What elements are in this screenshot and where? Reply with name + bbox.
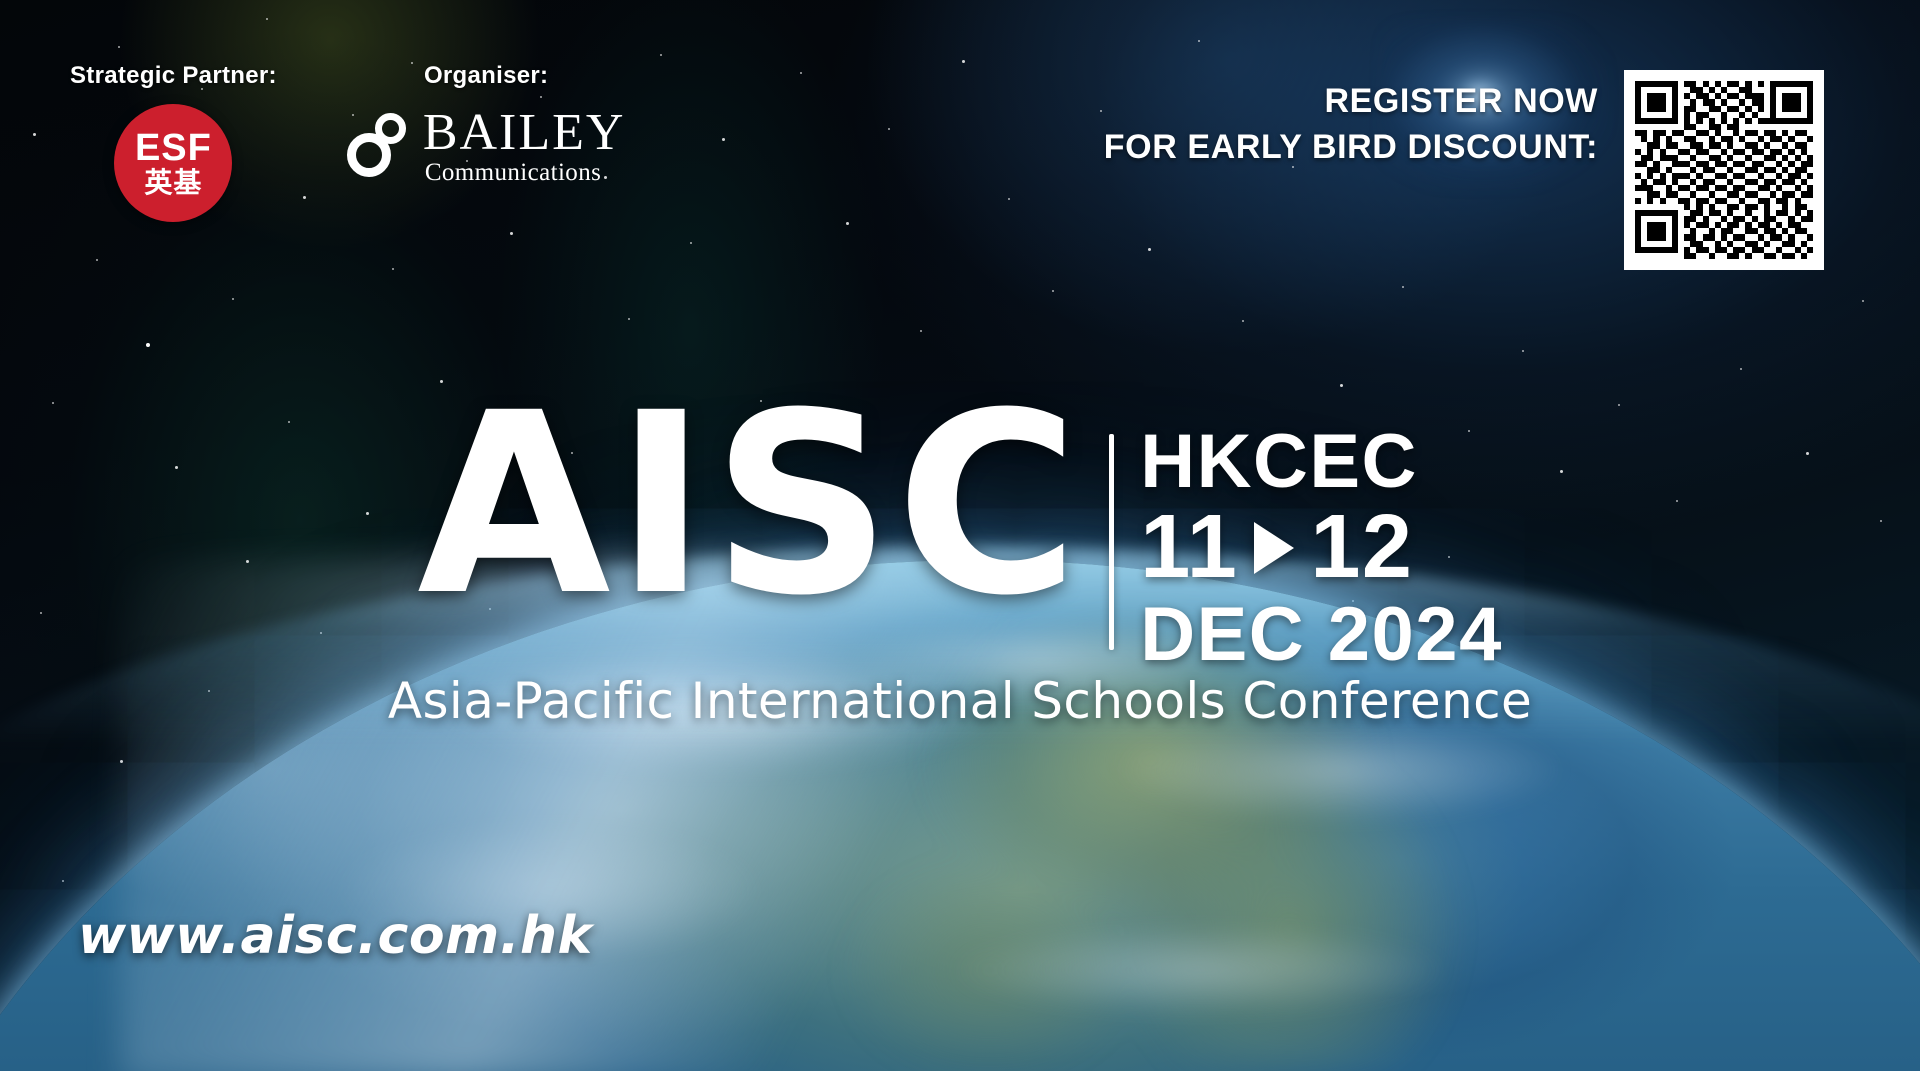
star (1740, 368, 1742, 370)
bailey-rings-icon (347, 113, 411, 179)
star (1242, 320, 1244, 322)
bailey-wordmark: BAILEY Communications (423, 108, 626, 185)
bailey-logo[interactable]: BAILEY Communications (347, 108, 626, 185)
star (1862, 300, 1864, 302)
arrow-right-icon (1254, 522, 1294, 574)
event-month-year: DEC 2024 (1140, 595, 1503, 674)
esf-logo-latin: ESF (135, 129, 212, 167)
strategic-partner-caption: Strategic Partner: (70, 62, 277, 90)
conference-subtitle: Asia-Pacific International Schools Confe… (0, 672, 1920, 730)
bailey-tagline: Communications (425, 160, 626, 185)
register-line-2: FOR EARLY BIRD DISCOUNT: (1104, 124, 1598, 170)
event-dates: 11 12 (1140, 501, 1503, 595)
star (118, 46, 120, 48)
website-url[interactable]: www.aisc.com.hk (78, 906, 593, 966)
star (232, 298, 234, 300)
venue-date-block: HKCEC 11 12 DEC 2024 (1140, 400, 1503, 674)
star (1052, 290, 1054, 292)
star (33, 133, 36, 136)
star (1340, 384, 1343, 387)
esf-logo-cjk: 英基 (144, 169, 202, 197)
star (920, 330, 922, 332)
bailey-name: BAILEY (423, 108, 626, 159)
star (392, 268, 394, 270)
esf-logo[interactable]: ESF 英基 (114, 104, 232, 222)
star (800, 72, 802, 74)
organiser-caption: Organiser: (424, 62, 548, 90)
qr-code-matrix (1635, 81, 1813, 259)
conference-banner: Strategic Partner: ESF 英基 Organiser: BAI… (0, 0, 1920, 1071)
star (962, 60, 965, 63)
star (690, 242, 692, 244)
date-day-to: 12 (1310, 501, 1413, 595)
star (510, 232, 513, 235)
star (888, 128, 890, 130)
star (1198, 40, 1200, 42)
main-lockup: AISC HKCEC 11 12 DEC 2024 (0, 400, 1920, 674)
star (1522, 350, 1524, 352)
strategic-partner-block: Strategic Partner: ESF 英基 (70, 62, 277, 222)
register-cta: REGISTER NOW FOR EARLY BIRD DISCOUNT: (1104, 70, 1824, 270)
organiser-block: Organiser: BAILEY Communications (347, 62, 626, 185)
register-line-1: REGISTER NOW (1104, 78, 1598, 124)
date-day-from: 11 (1140, 501, 1238, 595)
qr-code[interactable] (1624, 70, 1824, 270)
register-text-block: REGISTER NOW FOR EARLY BIRD DISCOUNT: (1104, 70, 1598, 170)
lockup-divider (1109, 434, 1114, 650)
bailey-ring-small-icon (375, 113, 406, 144)
aisc-wordmark: AISC (417, 400, 1109, 674)
star (1100, 110, 1102, 112)
partner-logos: Strategic Partner: ESF 英基 Organiser: BAI… (70, 62, 625, 222)
star (96, 259, 98, 261)
star (722, 138, 725, 141)
star (660, 54, 662, 56)
star (146, 343, 150, 347)
star (1402, 286, 1404, 288)
venue-name: HKCEC (1140, 422, 1503, 501)
star (628, 318, 630, 320)
star (1008, 198, 1010, 200)
star (846, 222, 849, 225)
star (266, 18, 268, 20)
